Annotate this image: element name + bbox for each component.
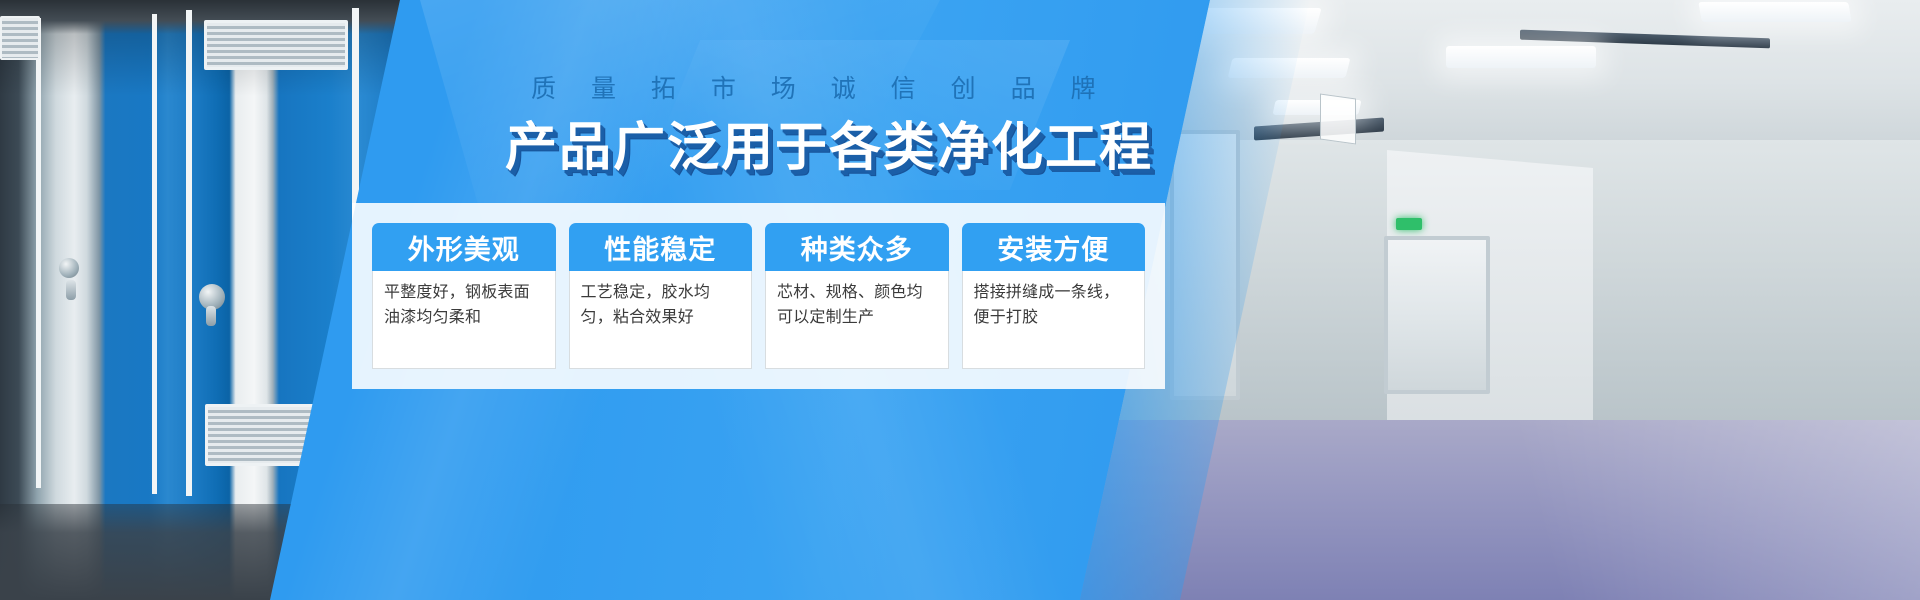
feature-card-body: 芯材、规格、颜色均可以定制生产 bbox=[765, 271, 949, 369]
feature-cards-panel: 外形美观 平整度好，钢板表面油漆均匀柔和 性能稳定 工艺稳定，胶水均匀，粘合效果… bbox=[352, 203, 1165, 389]
feature-card-title: 外形美观 bbox=[372, 223, 556, 271]
feature-card-title: 性能稳定 bbox=[569, 223, 753, 271]
feature-card[interactable]: 性能稳定 工艺稳定，胶水均匀，粘合效果好 bbox=[569, 223, 753, 369]
feature-card-body: 工艺稳定，胶水均匀，粘合效果好 bbox=[569, 271, 753, 369]
feature-card[interactable]: 外形美观 平整度好，钢板表面油漆均匀柔和 bbox=[372, 223, 556, 369]
feature-card-body: 搭接拼缝成一条线，便于打胶 bbox=[962, 271, 1146, 369]
feature-card-title: 安装方便 bbox=[962, 223, 1146, 271]
feature-cards-row: 外形美观 平整度好，钢板表面油漆均匀柔和 性能稳定 工艺稳定，胶水均匀，粘合效果… bbox=[352, 203, 1165, 389]
promo-banner: 质 量 拓 市 场 诚 信 创 品 牌 产品广泛用于各类净化工程 外形美观 平整… bbox=[0, 0, 1920, 600]
feature-card[interactable]: 安装方便 搭接拼缝成一条线，便于打胶 bbox=[962, 223, 1146, 369]
feature-card-title: 种类众多 bbox=[765, 223, 949, 271]
feature-card-body: 平整度好，钢板表面油漆均匀柔和 bbox=[372, 271, 556, 369]
banner-subtitle: 质 量 拓 市 场 诚 信 创 品 牌 bbox=[531, 74, 1110, 104]
banner-headline: 产品广泛用于各类净化工程 bbox=[505, 118, 1153, 178]
feature-card[interactable]: 种类众多 芯材、规格、颜色均可以定制生产 bbox=[765, 223, 949, 369]
